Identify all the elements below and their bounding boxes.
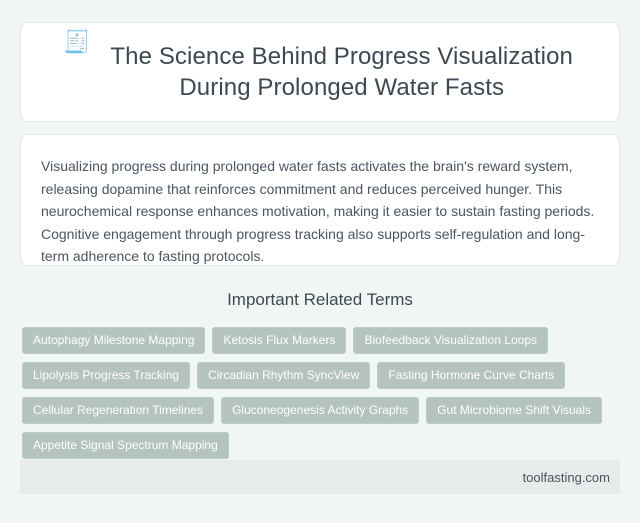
tag-item[interactable]: Ketosis Flux Markers — [212, 327, 346, 354]
article-card: Visualizing progress during prolonged wa… — [20, 134, 620, 266]
tag-item[interactable]: Appetite Signal Spectrum Mapping — [22, 432, 229, 459]
tag-item[interactable]: Circadian Rhythm SyncView — [197, 362, 370, 389]
footer-site-name: toolfasting.com — [523, 470, 610, 485]
footer-bar: toolfasting.com — [20, 460, 620, 494]
tag-item[interactable]: Gluconeogenesis Activity Graphs — [221, 397, 419, 424]
page-container: 🧾 The Science Behind Progress Visualizat… — [0, 0, 640, 523]
receipt-icon: 🧾 — [63, 27, 90, 57]
tag-item[interactable]: Cellular Regeneration Timelines — [22, 397, 214, 424]
page-title: The Science Behind Progress Visualizatio… — [107, 41, 577, 103]
tag-item[interactable]: Autophagy Milestone Mapping — [22, 327, 205, 354]
tag-item[interactable]: Lipolysis Progress Tracking — [22, 362, 190, 389]
tag-item[interactable]: Biofeedback Visualization Loops — [353, 327, 548, 354]
title-card: 🧾 The Science Behind Progress Visualizat… — [20, 22, 620, 122]
related-terms-heading: Important Related Terms — [20, 290, 620, 310]
related-terms-section: Important Related Terms Autophagy Milest… — [20, 290, 620, 459]
tag-item[interactable]: Gut Microbiome Shift Visuals — [426, 397, 602, 424]
tag-list: Autophagy Milestone Mapping Ketosis Flux… — [20, 327, 620, 459]
tag-item[interactable]: Fasting Hormone Curve Charts — [377, 362, 565, 389]
title-row: 🧾 The Science Behind Progress Visualizat… — [63, 25, 576, 119]
article-body: Visualizing progress during prolonged wa… — [41, 155, 599, 268]
